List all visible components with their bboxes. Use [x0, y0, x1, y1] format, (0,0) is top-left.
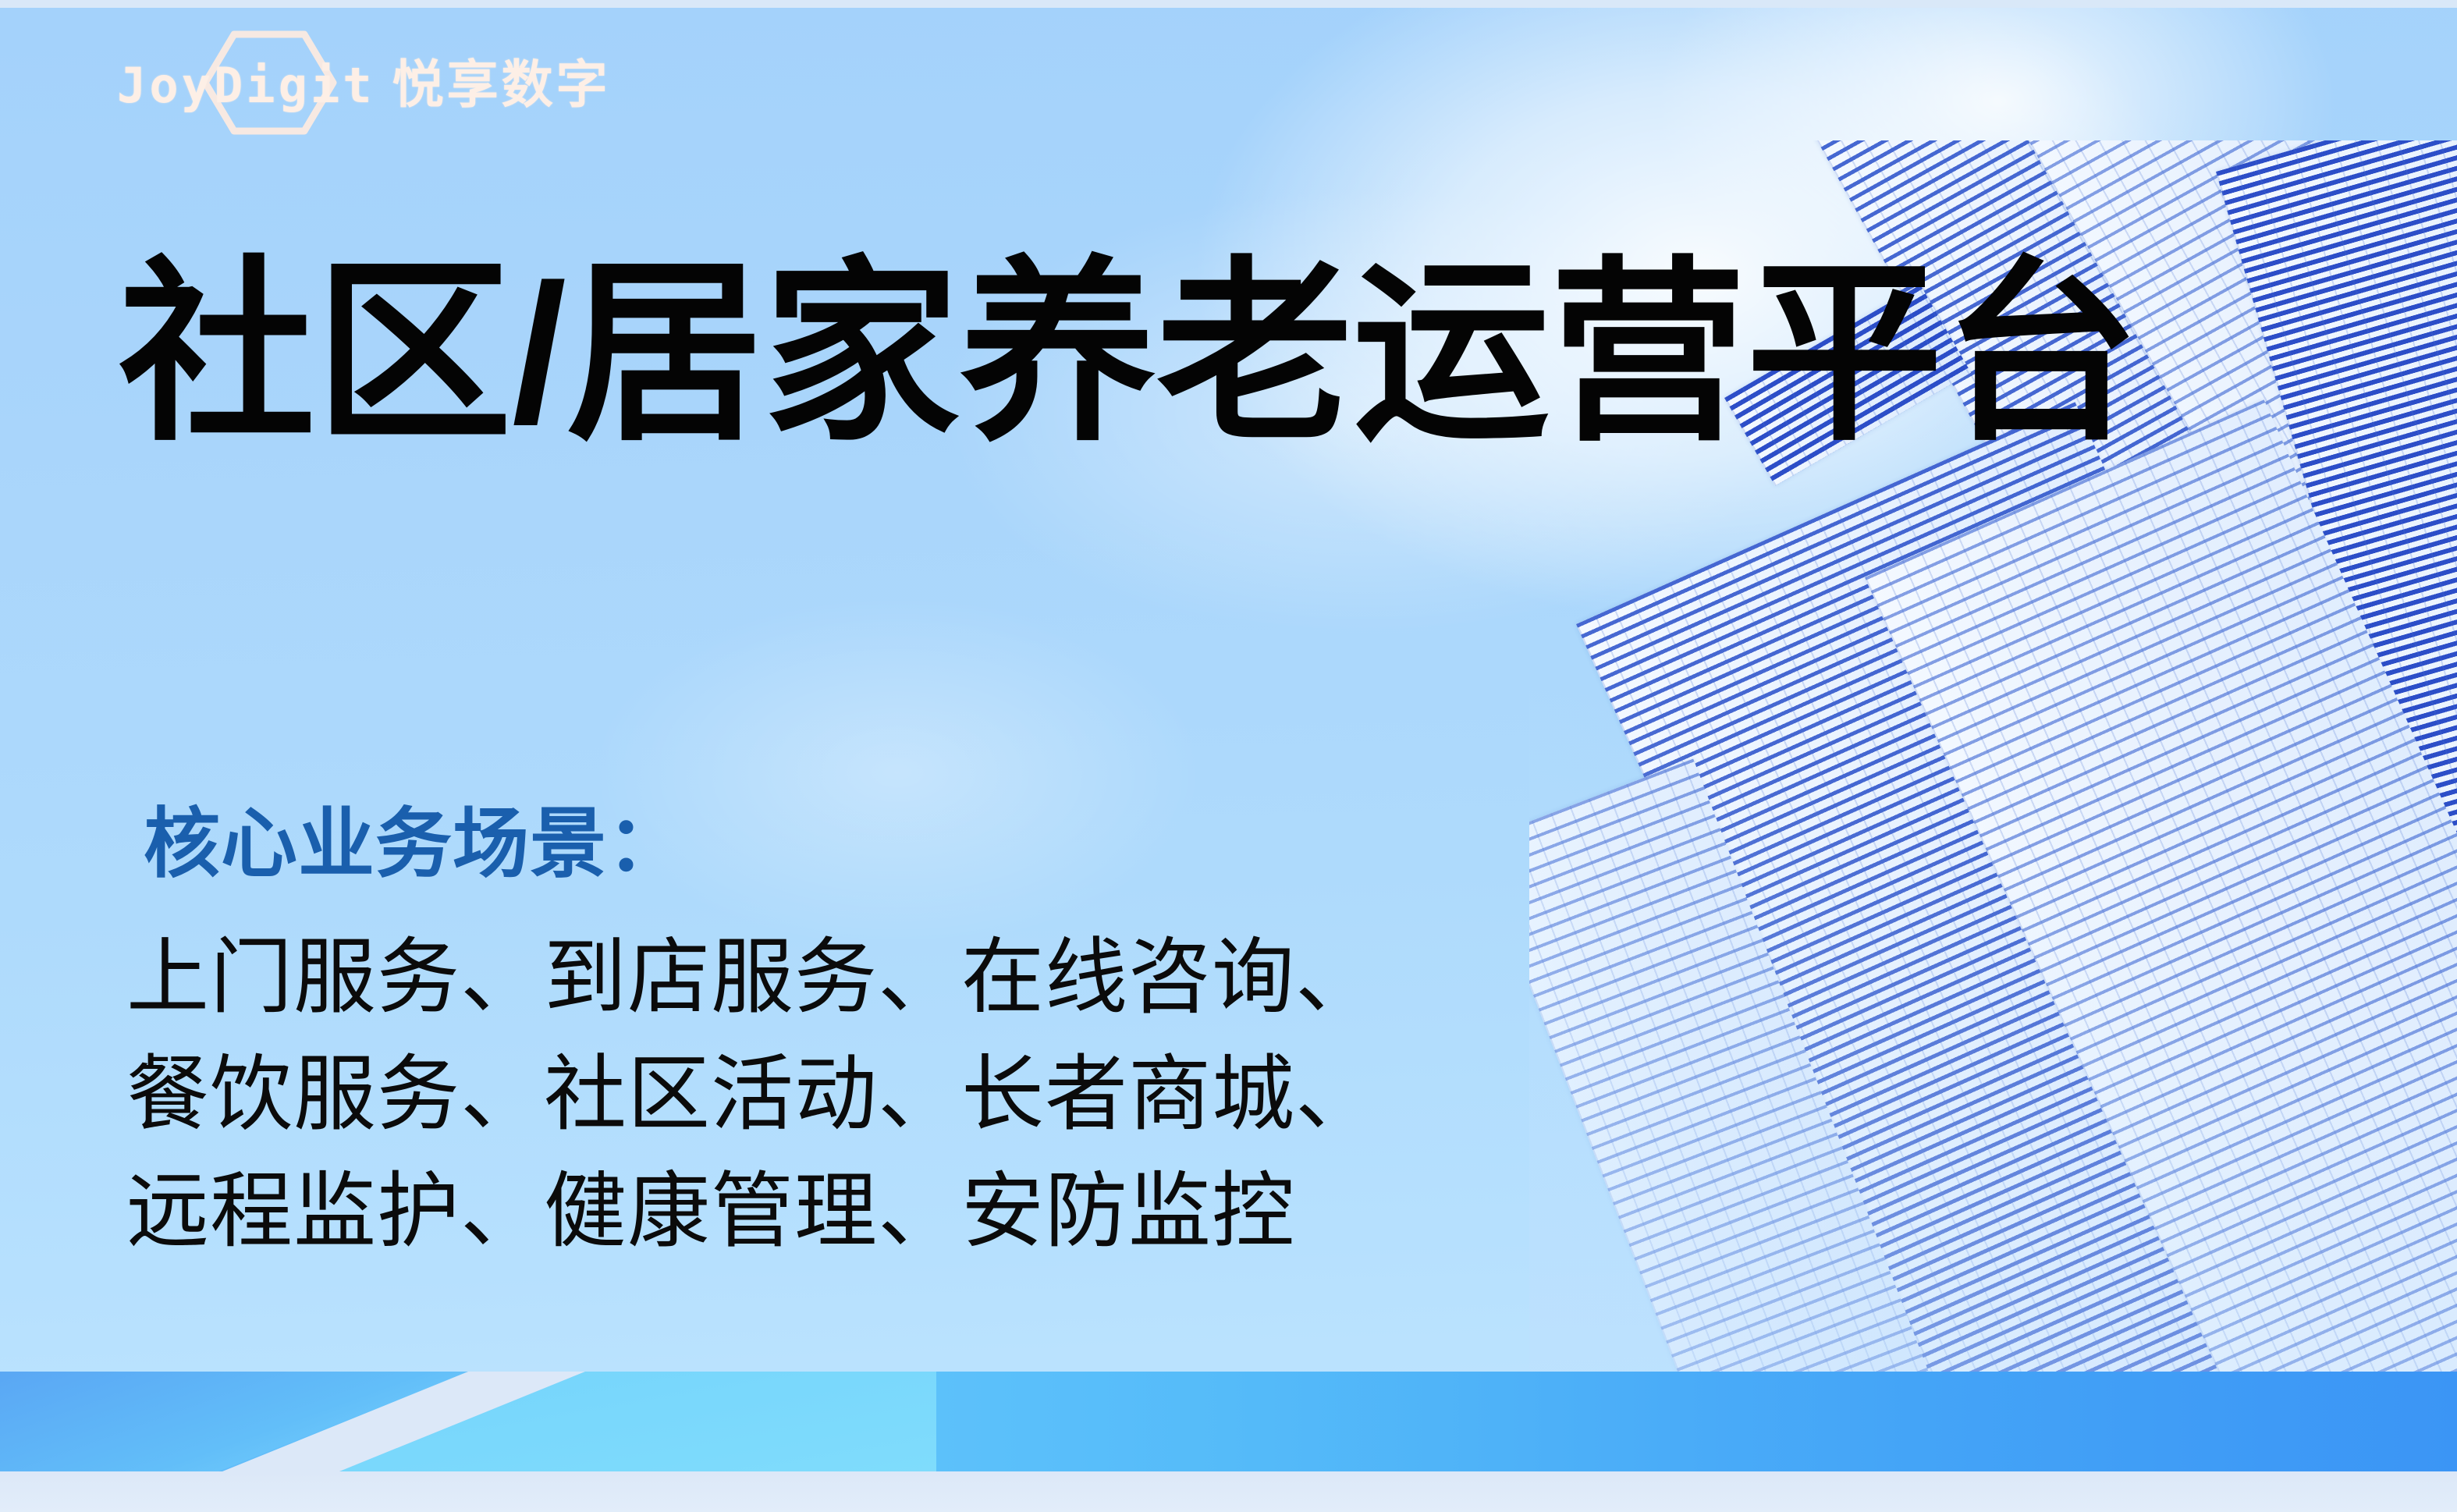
page-title: 社区/居家养老运营平台	[119, 256, 2139, 453]
brand-logo[interactable]: JoyDigit 悦享数字	[117, 30, 611, 131]
bottom-base-strip	[0, 1471, 2457, 1512]
slide-canvas: JoyDigit 悦享数字 社区/居家养老运营平台 核心业务场景： 上门服务、到…	[0, 0, 2457, 1512]
brand-logo-text: JoyDigit 悦享数字	[117, 43, 611, 118]
scenario-list: 上门服务、到店服务、在线咨询、 餐饮服务、社区活动、长者商城、 远程监护、健康管…	[126, 919, 1379, 1270]
top-edge-strip	[0, 0, 2457, 8]
scenario-line-2: 餐饮服务、社区活动、长者商城、	[126, 1036, 1379, 1153]
scenario-line-3: 远程监护、健康管理、安防监控	[126, 1153, 1379, 1270]
section-heading: 核心业务场景：	[144, 782, 684, 893]
brand-name-cn: 悦享数字	[392, 43, 611, 118]
bottom-decoration	[0, 1372, 2457, 1512]
scenario-line-1: 上门服务、到店服务、在线咨询、	[126, 919, 1379, 1036]
brand-name-en: JoyDigit	[117, 57, 375, 114]
